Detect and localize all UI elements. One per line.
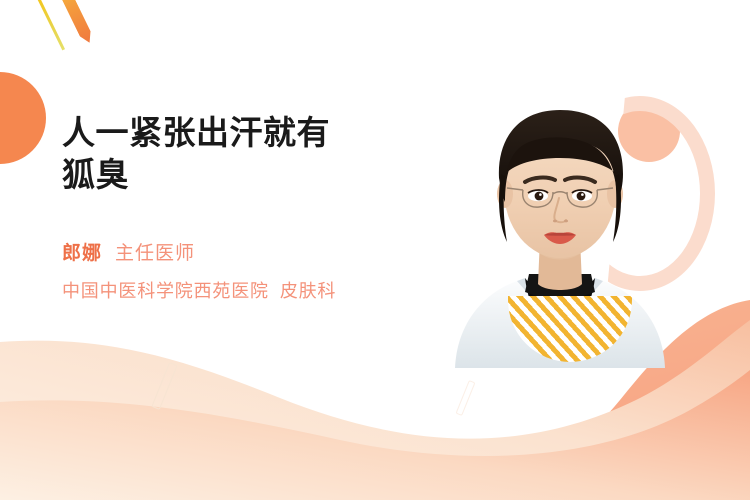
text-content: 人一紧张出汗就有 狐臭 郎娜主任医师 中国中医科学院西苑医院皮肤科 <box>62 112 422 303</box>
doctor-title: 主任医师 <box>115 243 195 264</box>
doctor-affiliation: 中国中医科学院西苑医院皮肤科 <box>62 277 422 303</box>
headline-line-2: 狐臭 <box>62 154 422 196</box>
department-name: 皮肤科 <box>280 281 336 301</box>
hospital-name: 中国中医科学院西苑医院 <box>62 281 269 301</box>
yellow-diagonal-stroke-decor <box>35 0 65 50</box>
doctor-name: 郎娜 <box>62 243 102 264</box>
headline-line-1: 人一紧张出汗就有 <box>62 112 422 154</box>
promo-card: 人一紧张出汗就有 狐臭 郎娜主任医师 中国中医科学院西苑医院皮肤科 <box>0 0 750 500</box>
doctor-byline: 郎娜主任医师 <box>62 240 422 268</box>
page-title: 人一紧张出汗就有 狐臭 <box>62 112 422 196</box>
orange-circle-decor <box>0 72 46 164</box>
